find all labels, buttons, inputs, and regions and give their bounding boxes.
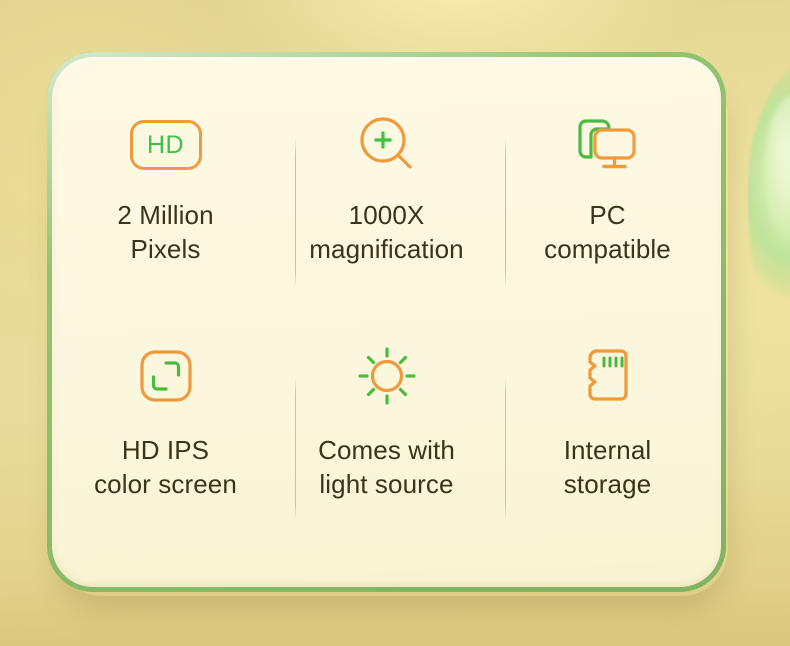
icon-slot: HD xyxy=(130,114,202,176)
feature-item-screen: HD IPS color screen xyxy=(55,321,276,562)
feature-label: PC compatible xyxy=(544,198,671,267)
feature-label: HD IPS color screen xyxy=(94,433,237,502)
feature-item-pixels: HD 2 Million Pixels xyxy=(55,80,276,321)
icon-slot xyxy=(356,345,418,407)
feature-label: 1000X magnification xyxy=(309,198,464,267)
promo-banner: HD 2 Million Pixels 1000X magnification xyxy=(0,0,790,646)
feature-label: 2 Million Pixels xyxy=(117,198,213,267)
icon-slot xyxy=(356,114,418,176)
screen-corners-icon xyxy=(138,348,194,404)
sd-card-icon xyxy=(580,347,636,405)
icon-slot xyxy=(138,345,194,407)
feature-item-storage: Internal storage xyxy=(497,321,718,562)
feature-label: Internal storage xyxy=(564,433,652,502)
sun-light-icon xyxy=(356,345,418,407)
feature-item-pc: PC compatible xyxy=(497,80,718,321)
feature-item-light: Comes with light source xyxy=(276,321,497,562)
icon-slot xyxy=(575,114,641,176)
icon-slot xyxy=(580,345,636,407)
feature-label: Comes with light source xyxy=(318,433,455,502)
feature-grid: HD 2 Million Pixels 1000X magnification xyxy=(47,52,726,592)
hd-badge-label: HD xyxy=(147,133,184,158)
pc-monitor-icon xyxy=(575,116,641,174)
magnifier-plus-icon xyxy=(356,114,418,176)
feature-item-magnification: 1000X magnification xyxy=(276,80,497,321)
hd-badge-icon: HD xyxy=(130,120,202,170)
